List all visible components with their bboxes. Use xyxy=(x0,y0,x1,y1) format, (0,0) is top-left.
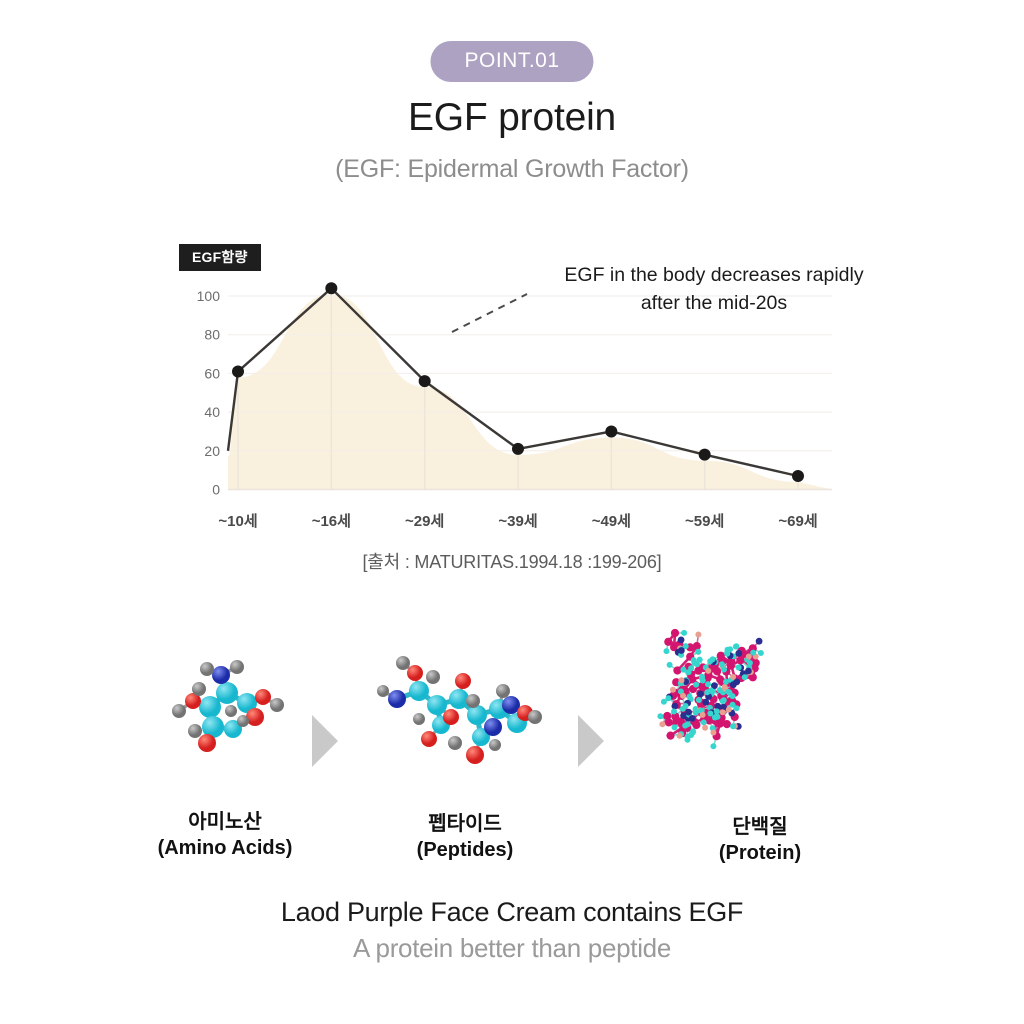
chart-data-point xyxy=(605,425,617,437)
amino-acid-molecule-icon xyxy=(155,645,295,775)
chart-data-point xyxy=(699,449,711,461)
chart-data-point xyxy=(792,470,804,482)
molecule-label-ko: 단백질 xyxy=(732,816,787,838)
chart-annotation-line1: EGF in the body decreases rapidly xyxy=(564,264,863,286)
chart-annotation-line2: after the mid-20s xyxy=(641,292,787,314)
molecule-label-en: (Protein) xyxy=(640,841,880,867)
x-tick-label: ~29세 xyxy=(405,513,444,530)
chart-data-point xyxy=(232,365,244,377)
y-tick-label: 80 xyxy=(204,327,220,343)
molecule-label-en: (Peptides) xyxy=(345,838,585,864)
y-tick-label: 40 xyxy=(204,404,220,420)
arrow-2-icon xyxy=(578,715,604,767)
footer-headline: Laod Purple Face Cream contains EGF xyxy=(0,897,1024,928)
chart-annotation: EGF in the body decreases rapidly after … xyxy=(540,262,888,317)
egf-chart: EGF함량 020406080100 ~10세~16세~29세~39세~49세~… xyxy=(0,0,1024,600)
y-tick-label: 100 xyxy=(197,288,221,304)
chart-data-point xyxy=(419,375,431,387)
molecule-label-ko: 아미노산 xyxy=(188,811,262,833)
molecule-label-ko: 펩타이드 xyxy=(428,813,502,835)
chart-data-point xyxy=(512,443,524,455)
molecule-label-peptides: 펩타이드 (Peptides) xyxy=(345,812,585,863)
y-tick-label: 60 xyxy=(204,365,220,381)
molecule-label-en: (Amino Acids) xyxy=(105,836,345,862)
x-tick-label: ~49세 xyxy=(592,513,631,530)
y-tick-label: 0 xyxy=(212,482,220,498)
chart-data-point xyxy=(325,282,337,294)
chart-source-citation: [출처 : MATURITAS.1994.18 :199-206] xyxy=(0,548,1024,574)
y-tick-label: 20 xyxy=(204,443,220,459)
arrow-1-icon xyxy=(312,715,338,767)
protein-molecule-icon xyxy=(640,625,880,815)
peptide-molecule-icon xyxy=(375,647,555,777)
molecule-label-protein: 단백질 (Protein) xyxy=(640,815,880,866)
molecule-progression: 아미노산 (Amino Acids) xyxy=(0,625,1024,875)
x-tick-label: ~39세 xyxy=(498,513,537,530)
molecule-label-amino-acids: 아미노산 (Amino Acids) xyxy=(105,810,345,861)
x-tick-label: ~10세 xyxy=(218,513,257,530)
page-root: POINT.01 EGF protein (EGF: Epidermal Gro… xyxy=(0,0,1024,1024)
x-tick-label: ~59세 xyxy=(685,513,724,530)
x-tick-label: ~16세 xyxy=(312,513,351,530)
footer-subline: A protein better than peptide xyxy=(0,933,1024,964)
x-tick-label: ~69세 xyxy=(778,513,817,530)
